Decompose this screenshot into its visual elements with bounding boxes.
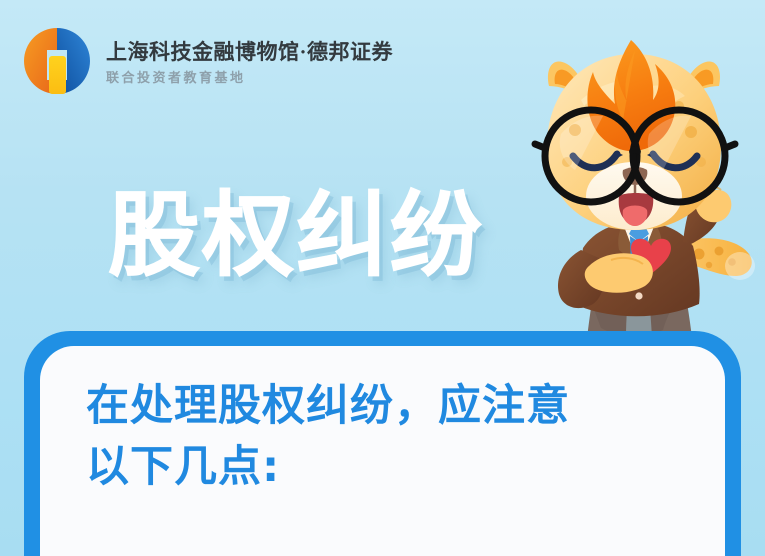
poster-headline: 股权纠纷 bbox=[108, 190, 484, 282]
museum-logo-icon bbox=[20, 24, 94, 98]
brand-text-block: 上海科技金融博物馆·德邦证券 联合投资者教育基地 bbox=[106, 35, 393, 87]
info-card: 在处理股权纠纷，应注意 以下几点: bbox=[24, 331, 741, 556]
brand-title: 上海科技金融博物馆·德邦证券 bbox=[106, 39, 393, 65]
info-card-line-1: 在处理股权纠纷，应注意 bbox=[86, 376, 699, 437]
poster-root: 上海科技金融博物馆·德邦证券 联合投资者教育基地 股权纠纷 bbox=[0, 0, 765, 556]
brand-header: 上海科技金融博物馆·德邦证券 联合投资者教育基地 bbox=[20, 24, 393, 98]
info-card-line-2: 以下几点: bbox=[86, 437, 699, 498]
museum-logo bbox=[20, 24, 94, 98]
info-card-text: 在处理股权纠纷，应注意 以下几点: bbox=[86, 376, 699, 498]
info-card-inner: 在处理股权纠纷，应注意 以下几点: bbox=[40, 346, 725, 556]
brand-subtitle: 联合投资者教育基地 bbox=[106, 69, 393, 87]
